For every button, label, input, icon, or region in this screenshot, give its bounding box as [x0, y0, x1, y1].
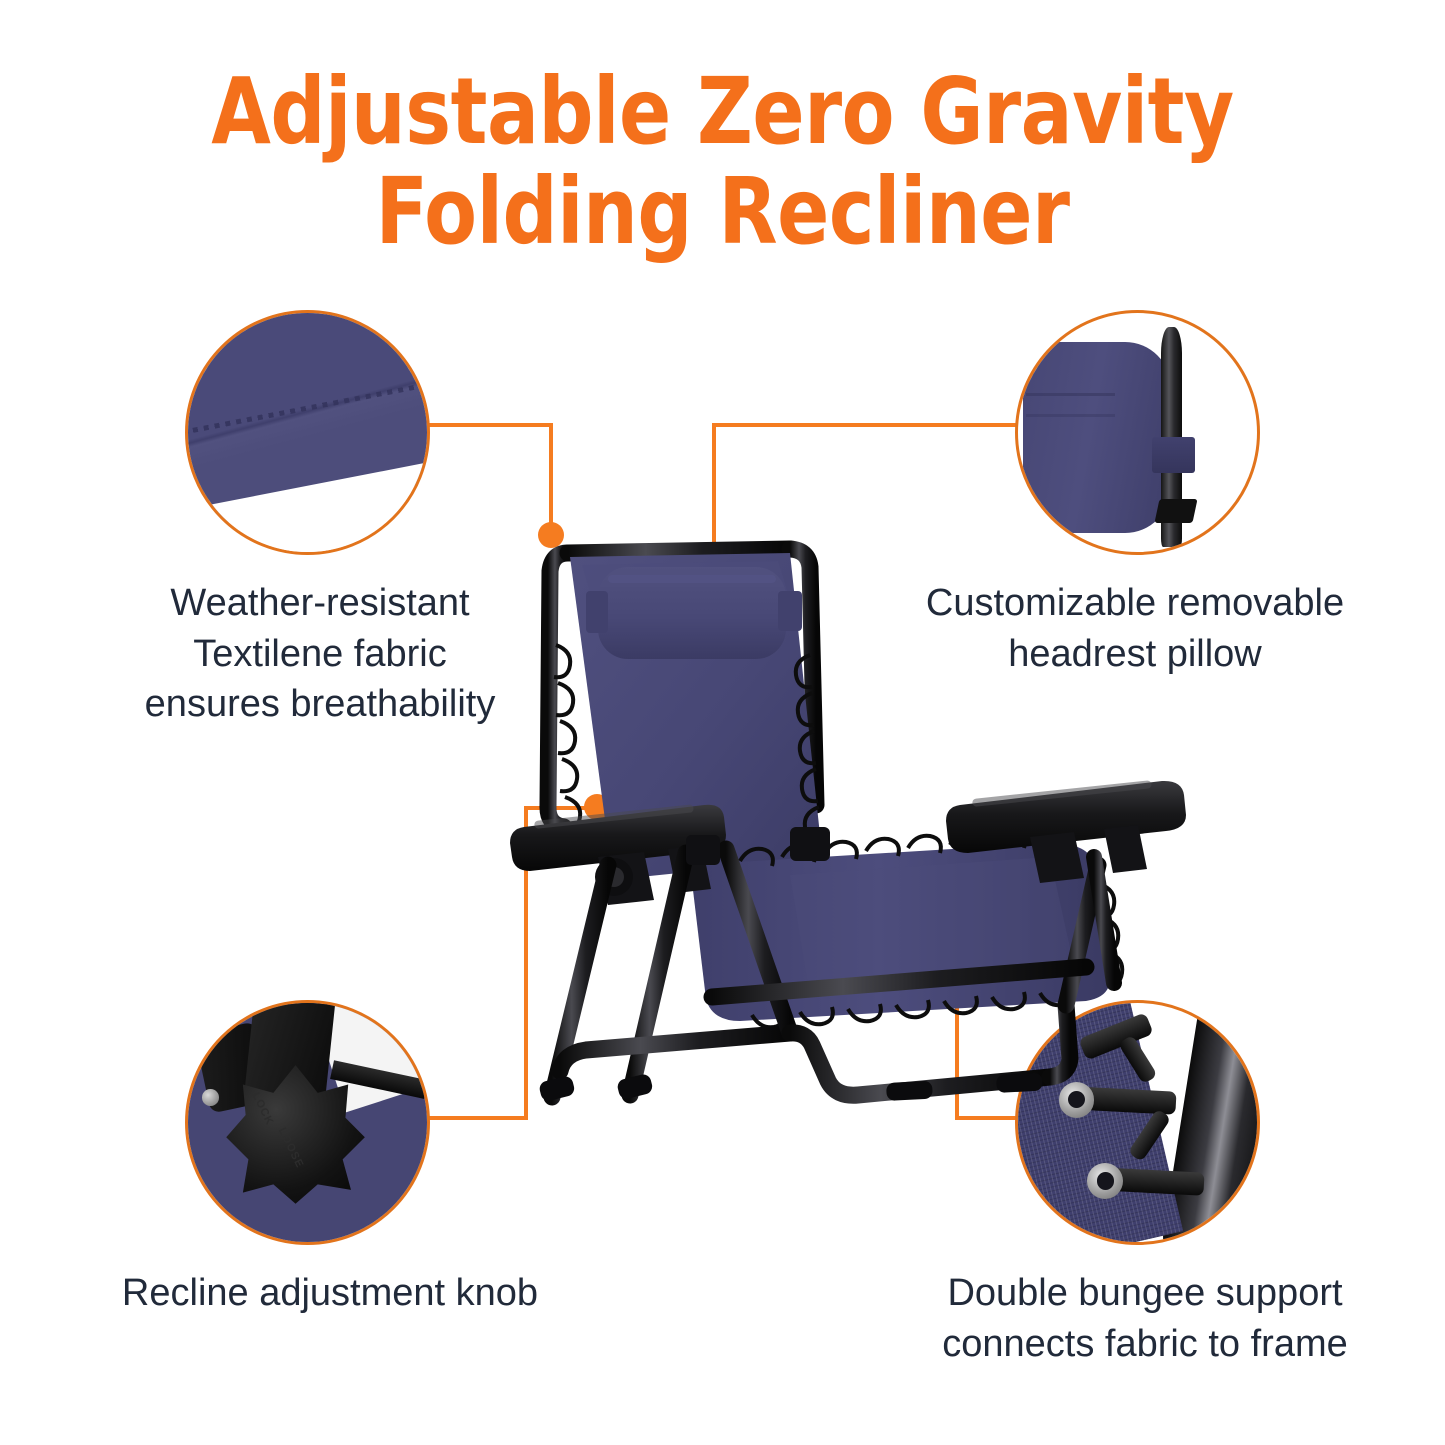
headrest-pillow — [586, 567, 802, 659]
pillow-strap — [1152, 437, 1195, 473]
caption-line: ensures breathability — [60, 679, 580, 730]
detail-inset-recline-knob: LOCK LOOSE — [185, 1000, 430, 1245]
caption-line: headrest pillow — [855, 629, 1415, 680]
recline-knob-image: LOCK LOOSE — [188, 1003, 427, 1242]
pillow-strap-left — [586, 591, 608, 633]
detail-inset-fabric-seam — [185, 310, 430, 555]
pillow-seam-mid — [1026, 414, 1115, 417]
caption-line: Weather-resistant — [60, 578, 580, 629]
callout-caption-headrest-pillow: Customizable removable headrest pillow — [855, 578, 1415, 679]
caption-line: Double bungee support — [865, 1268, 1425, 1319]
callout-caption-recline-knob: Recline adjustment knob — [40, 1268, 620, 1319]
screw-head — [202, 1089, 219, 1106]
star-knob — [226, 1065, 365, 1204]
title-line-2: Folding Recliner — [51, 162, 1395, 262]
caption-line: connects fabric to frame — [865, 1319, 1425, 1370]
page-title: Adjustable Zero Gravity Folding Recliner — [51, 62, 1395, 263]
caption-line: Recline adjustment knob — [40, 1268, 620, 1319]
infographic-canvas: Adjustable Zero Gravity Folding Recliner — [0, 0, 1445, 1445]
callout-caption-weather-resistant-fabric: Weather-resistant Textilene fabric ensur… — [60, 578, 580, 730]
title-line-1: Adjustable Zero Gravity — [211, 58, 1233, 165]
caption-line: Textilene fabric — [60, 629, 580, 680]
pillow-seam-top — [1026, 393, 1115, 396]
caption-line: Customizable removable — [855, 578, 1415, 629]
pillow-strap-right — [778, 591, 802, 631]
fabric-seam-image — [188, 313, 427, 552]
connector-line-top-right-horizontal — [712, 423, 1022, 427]
callout-caption-double-bungee: Double bungee support connects fabric to… — [865, 1268, 1425, 1369]
metal-grommet — [1087, 1163, 1123, 1199]
